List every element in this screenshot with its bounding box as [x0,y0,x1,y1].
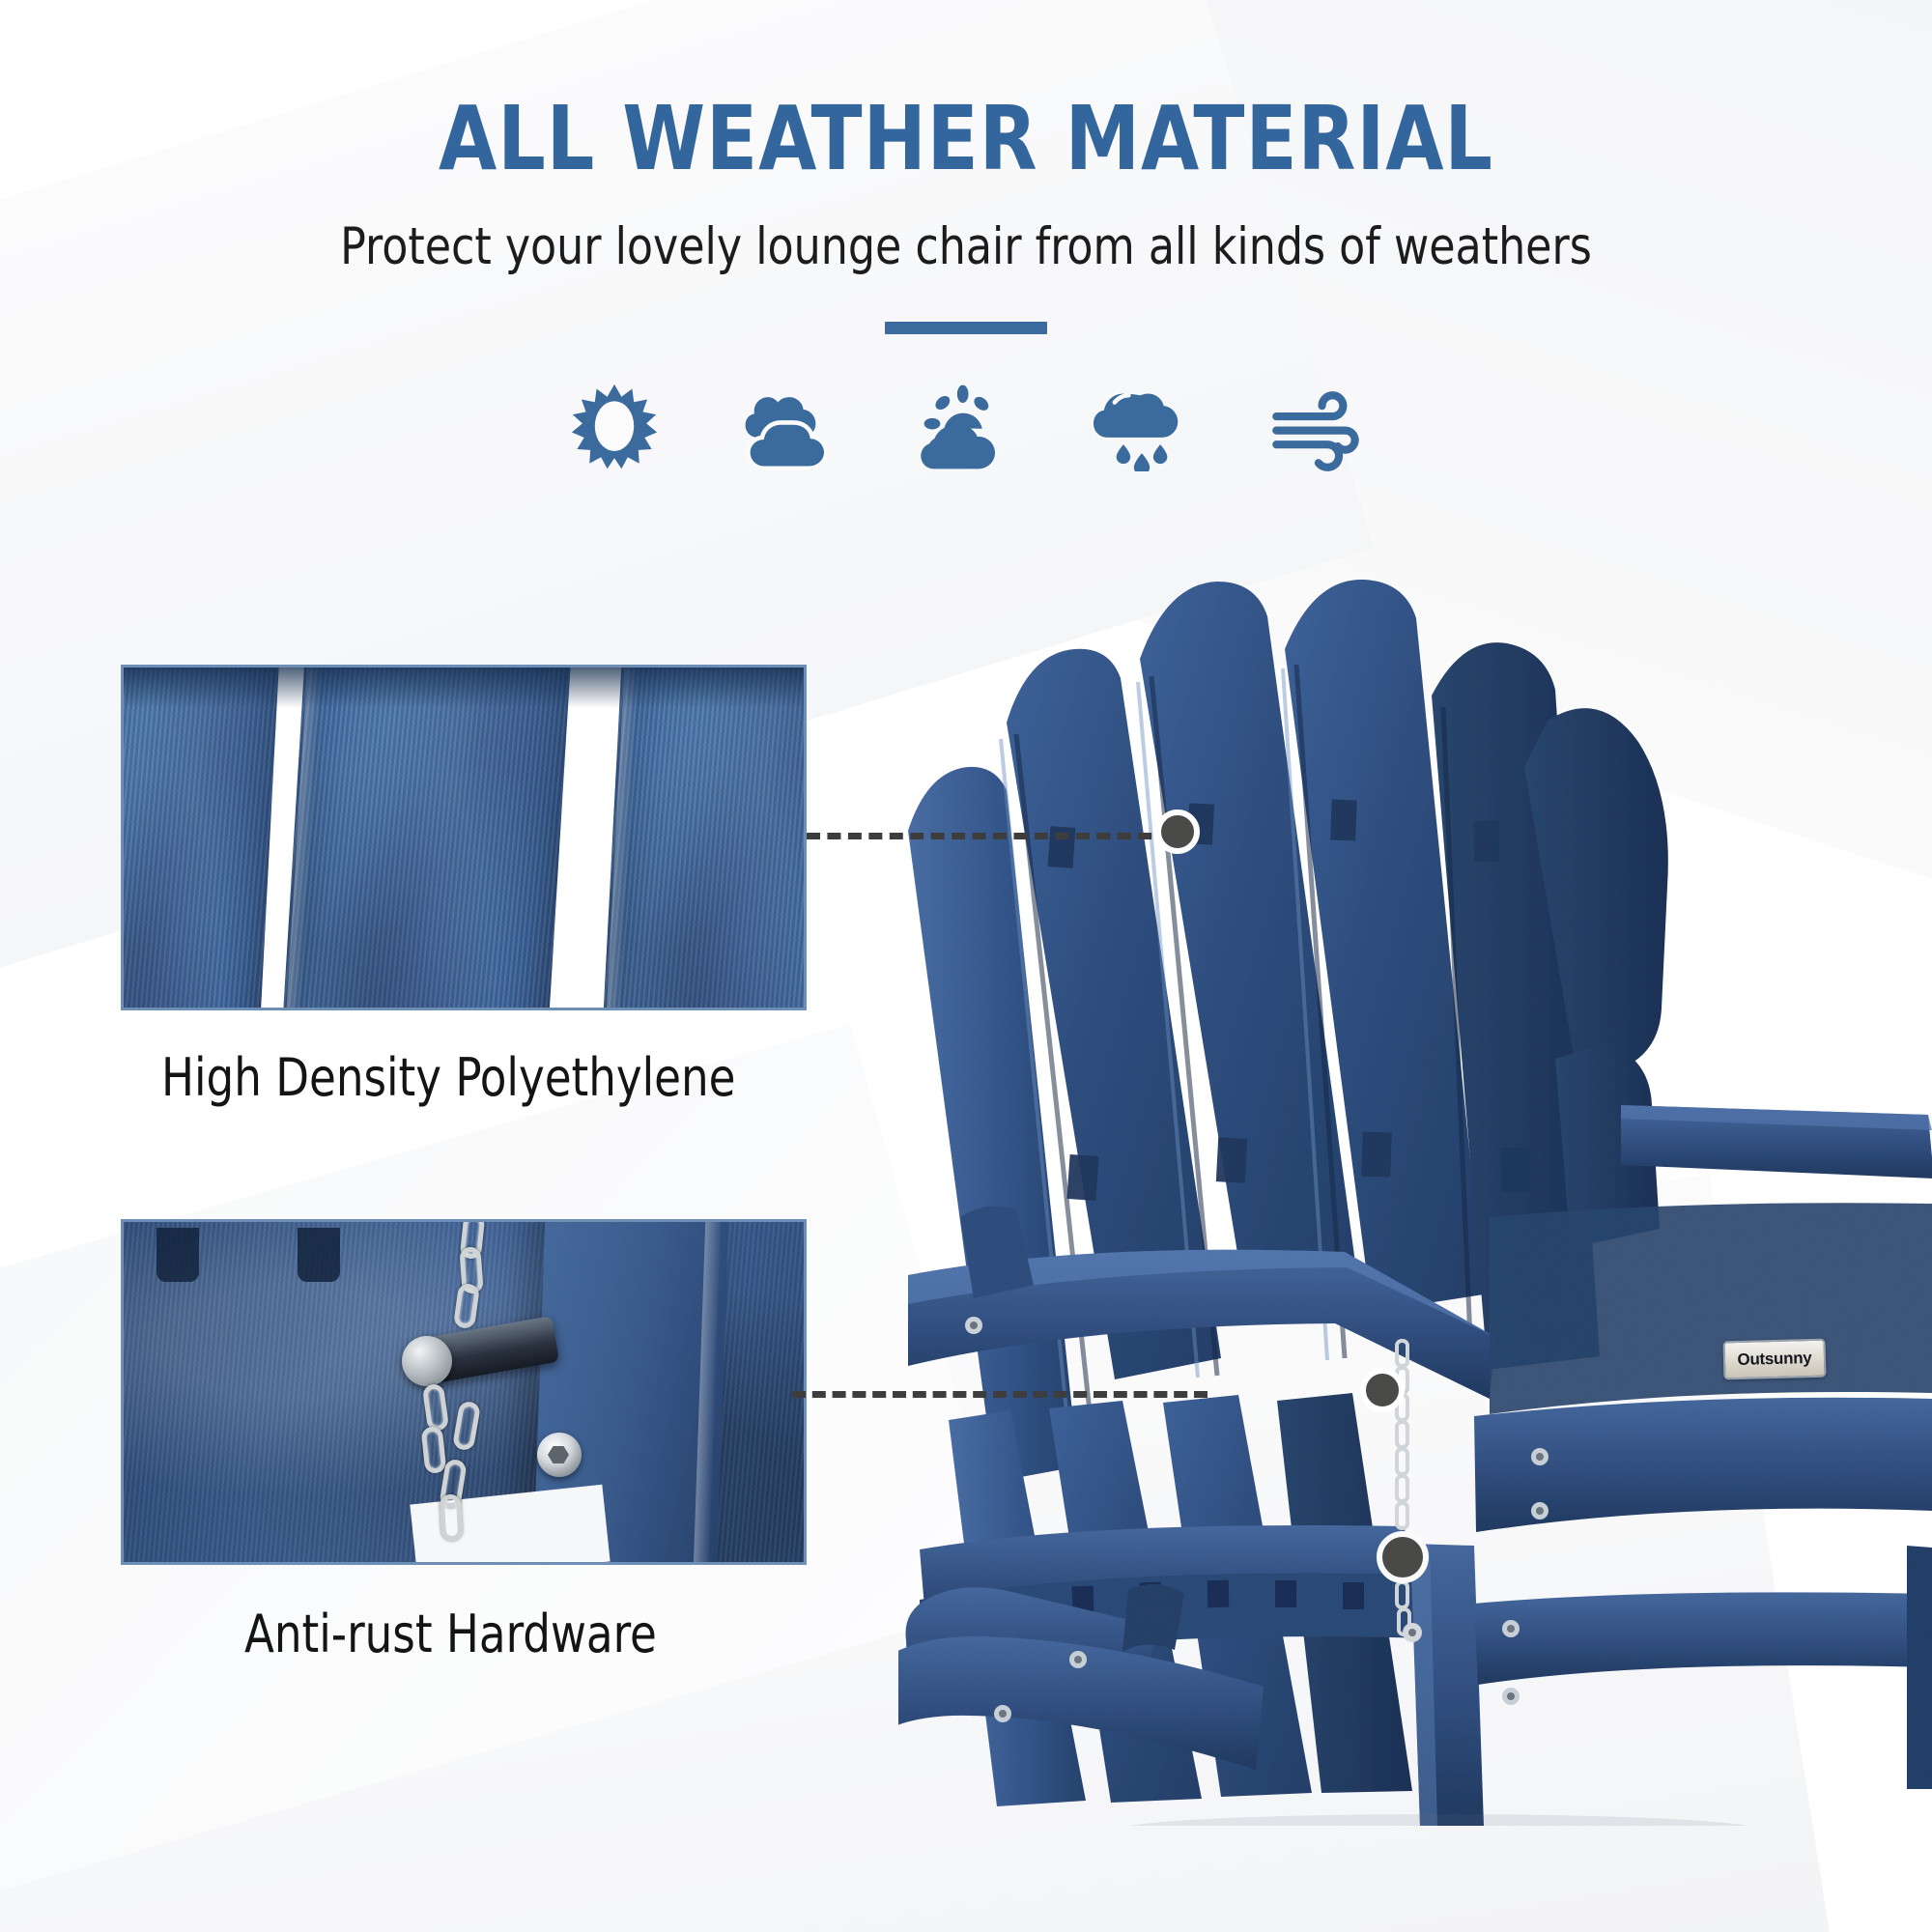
connector-line-hdpe [807,833,1193,839]
header-block: ALL WEATHER MATERIAL Protect your lovely… [0,0,1932,475]
feature-caption-hardware: Anti-rust Hardware [244,1604,657,1664]
callout-marker-hardware [1360,1368,1405,1412]
wind-icon [1269,379,1366,475]
hdpe-notch [298,1228,340,1282]
chair-far-seat-slab [1490,1203,1932,1414]
page-title: ALL WEATHER MATERIAL [58,93,1874,186]
inset-photo-hdpe [121,665,807,1010]
product-image-adirondack-chair [898,541,1932,1826]
chair-far-leg [1907,1546,1932,1789]
partly-cloudy-icon [918,379,1014,475]
hdpe-notch [156,1228,199,1282]
brand-name: Outsunny [1737,1349,1811,1370]
hdpe-slat [121,665,283,1010]
chain-marker-dot [1379,1534,1426,1580]
weather-icon-row [0,379,1932,475]
title-divider [885,322,1047,334]
anti-rust-screw [537,1433,582,1477]
feature-caption-hdpe: High Density Polyethylene [161,1047,735,1108]
inset-photo-hardware [121,1219,807,1565]
hdpe-slat [276,665,575,1010]
rain-cloud-icon [1094,379,1190,475]
hdpe-slat-photo [124,668,804,1008]
pin-head [402,1336,452,1386]
infographic-canvas: ALL WEATHER MATERIAL Protect your lovely… [0,0,1932,1932]
callout-marker-hdpe [1155,810,1200,854]
brand-badge: Outsunny [1722,1339,1826,1380]
chair-lower-side-rail [1474,1592,1932,1685]
cloudy-icon [742,379,838,475]
sun-icon [566,379,663,475]
hdpe-top-shadow [124,668,804,708]
chain-link [440,1493,463,1541]
page-subtitle: Protect your lovely lounge chair from al… [68,219,1864,275]
connector-line-hardware [792,1391,1207,1398]
